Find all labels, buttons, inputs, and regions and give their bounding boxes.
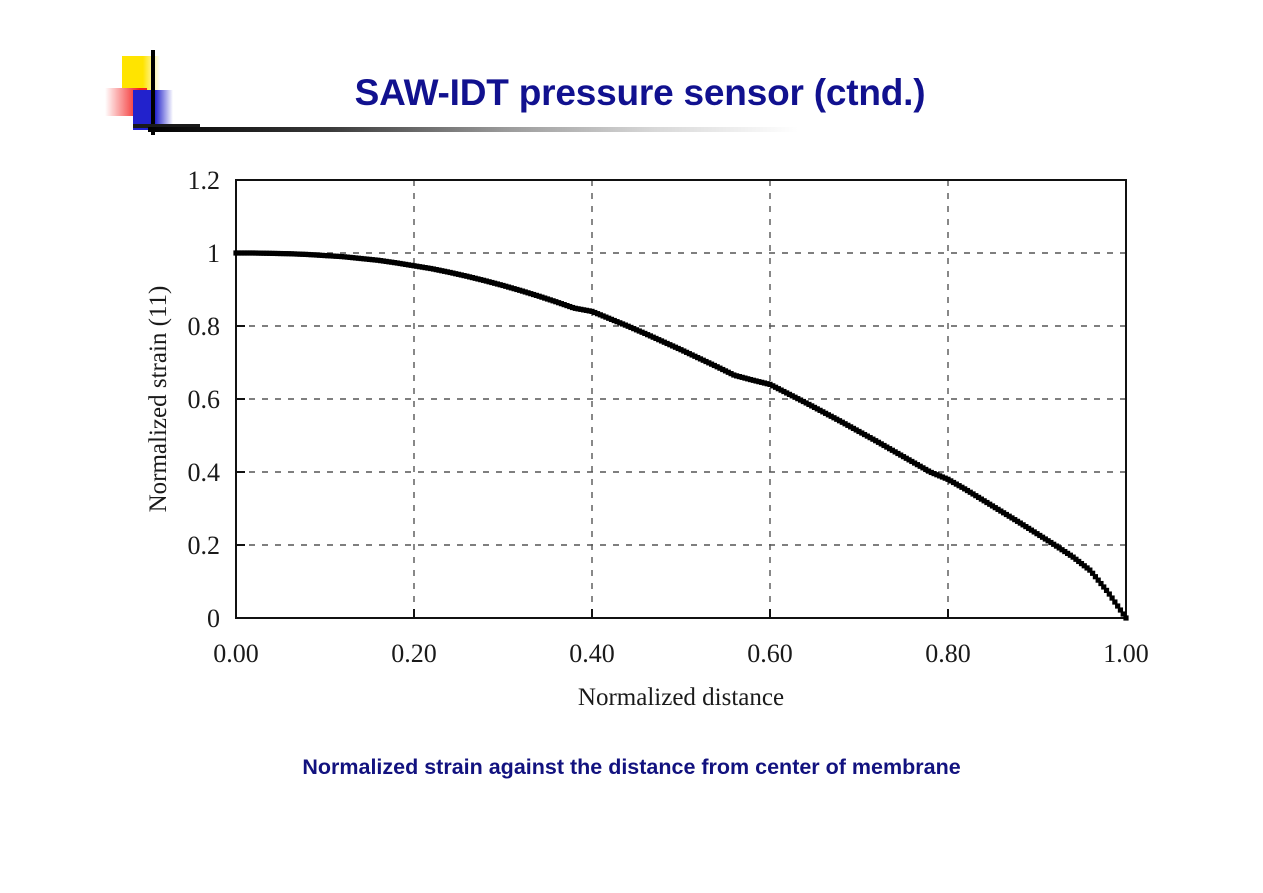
logo-vertical-rule (151, 50, 155, 135)
title-underline-rule (148, 127, 798, 132)
x-tick-label: 0.60 (747, 639, 793, 668)
strain-vs-distance-chart: 00.20.40.60.811.2 0.000.200.400.600.801.… (130, 160, 1190, 730)
y-tick-label: 0 (207, 604, 220, 633)
y-axis-ticks (236, 253, 245, 545)
x-axis-tick-labels: 0.000.200.400.600.801.00 (213, 639, 1149, 668)
x-tick-label: 0.20 (391, 639, 437, 668)
x-tick-label: 0.00 (213, 639, 259, 668)
x-tick-label: 0.40 (569, 639, 615, 668)
chart-figure: 00.20.40.60.811.2 0.000.200.400.600.801.… (130, 160, 1190, 730)
x-tick-label: 0.80 (925, 639, 971, 668)
figure-caption: Normalized strain against the distance f… (0, 755, 1263, 780)
decorative-logo-mark (105, 50, 200, 135)
y-tick-label: 0.8 (188, 312, 221, 341)
x-tick-label: 1.00 (1103, 639, 1149, 668)
y-tick-label: 0.2 (188, 531, 221, 560)
slide-header: SAW-IDT pressure sensor (ctnd.) (0, 0, 1263, 145)
y-axis-title: Normalized strain (11) (145, 286, 172, 513)
x-axis-title: Normalized distance (578, 684, 784, 711)
slide-title: SAW-IDT pressure sensor (ctnd.) (200, 72, 1080, 114)
data-series-markers (233, 250, 1128, 620)
y-tick-label: 1 (207, 239, 220, 268)
y-tick-label: 0.4 (188, 458, 221, 487)
plot-gridlines (236, 180, 1126, 618)
y-axis-tick-labels: 00.20.40.60.811.2 (188, 166, 221, 633)
x-axis-ticks (414, 609, 948, 618)
y-tick-label: 0.6 (188, 385, 221, 414)
y-tick-label: 1.2 (188, 166, 221, 195)
